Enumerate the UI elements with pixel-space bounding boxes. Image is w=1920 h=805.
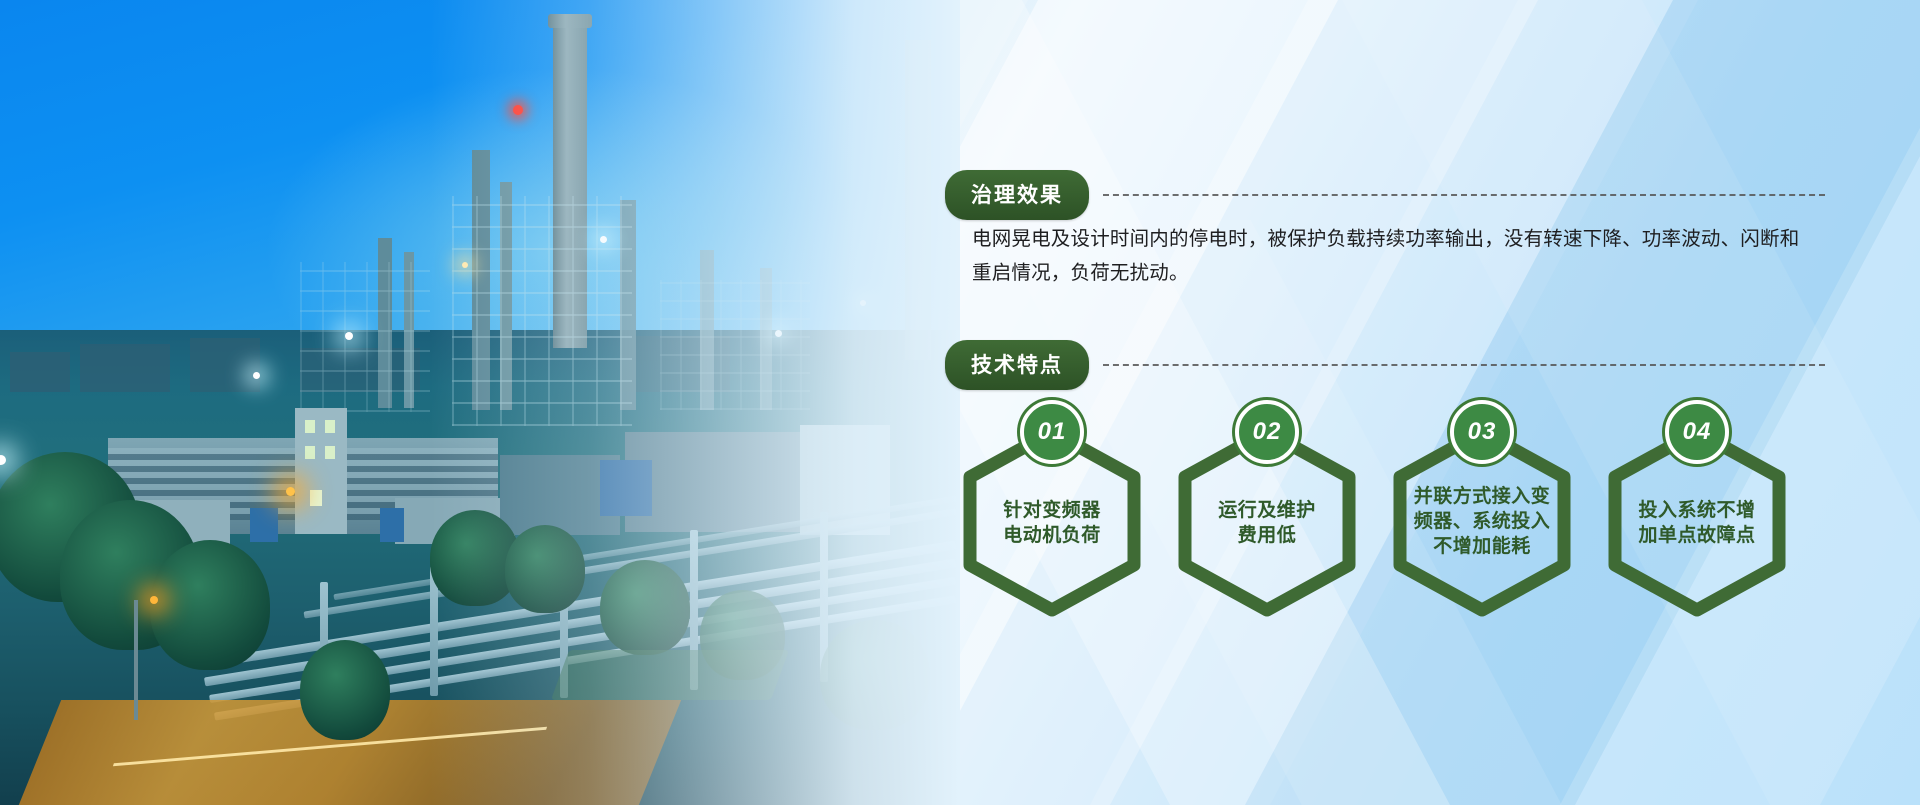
feature-hexagon-01[interactable]: 针对变频器 电动机负荷 01 [952,400,1152,620]
feature-line-2: 电动机负荷 [952,523,1152,548]
feature-line-1: 投入系统不增 [1597,498,1797,523]
feature-hexagon-03[interactable]: 并联方式接入变 频器、系统投入 不增加能耗 03 [1382,400,1582,620]
feature-number-badge-01: 01 [1020,400,1084,464]
feature-number-badge-03: 03 [1450,400,1514,464]
section-header-technical-features: 技术特点 [945,340,1825,390]
feature-hexagon-03-label: 并联方式接入变 频器、系统投入 不增加能耗 [1382,484,1582,559]
feature-line-2: 加单点故障点 [1597,523,1797,548]
feature-line-1: 运行及维护 [1167,498,1367,523]
feature-hexagon-row: 针对变频器 电动机负荷 01 运行及维护 费用低 02 [952,400,1832,620]
feature-line-2: 费用低 [1167,523,1367,548]
content-layer: 治理效果 电网晃电及设计时间内的停电时，被保护负载持续功率输出，没有转速下降、功… [0,0,1920,805]
feature-line-2: 频器、系统投入 [1382,509,1582,534]
dashed-divider [1103,364,1825,366]
feature-hexagon-04[interactable]: 投入系统不增 加单点故障点 04 [1597,400,1797,620]
feature-hexagon-02-label: 运行及维护 费用低 [1167,498,1367,548]
governance-effect-paragraph: 电网晃电及设计时间内的停电时，被保护负载持续功率输出，没有转速下降、功率波动、闪… [972,222,1804,290]
feature-hexagon-04-label: 投入系统不增 加单点故障点 [1597,498,1797,548]
feature-number-badge-02: 02 [1235,400,1299,464]
feature-hexagon-01-label: 针对变频器 电动机负荷 [952,498,1152,548]
feature-hexagon-02[interactable]: 运行及维护 费用低 02 [1167,400,1367,620]
feature-line-1: 并联方式接入变 [1382,484,1582,509]
section-label-technical-features: 技术特点 [945,340,1089,390]
feature-line-1: 针对变频器 [952,498,1152,523]
section-header-governance-effect: 治理效果 [945,170,1825,220]
dashed-divider [1103,194,1825,196]
section-label-governance-effect: 治理效果 [945,170,1089,220]
feature-line-3: 不增加能耗 [1382,534,1582,559]
feature-number-badge-04: 04 [1665,400,1729,464]
promotional-banner: 治理效果 电网晃电及设计时间内的停电时，被保护负载持续功率输出，没有转速下降、功… [0,0,1920,805]
